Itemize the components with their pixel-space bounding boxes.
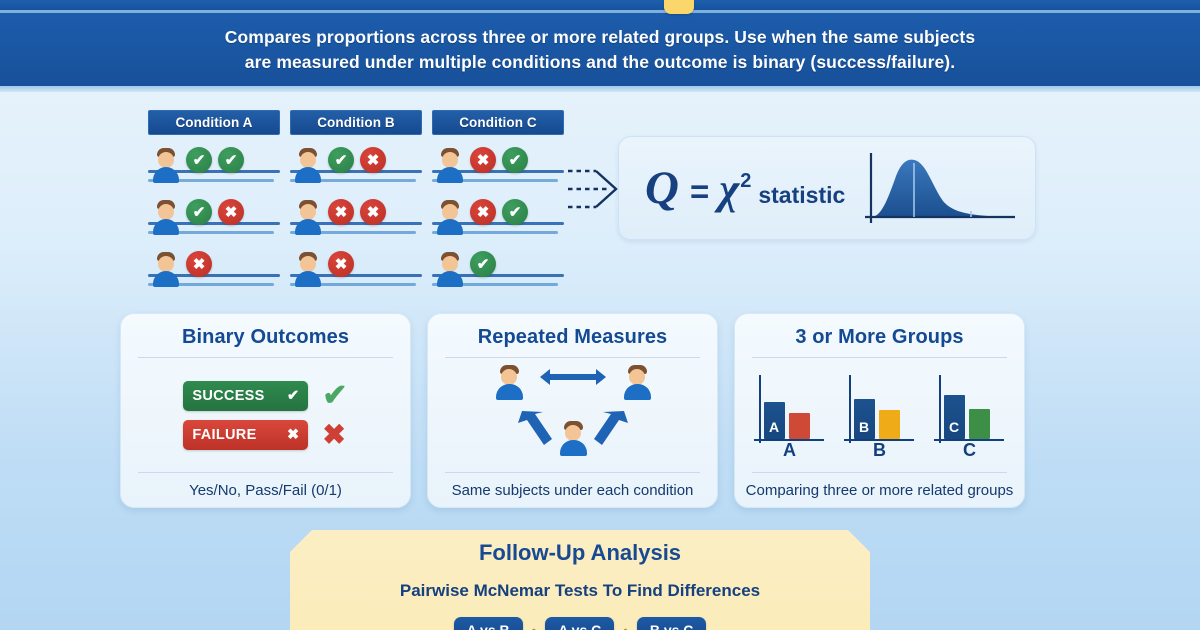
card-three-or-more-groups: 3 or More Groups A A B B (734, 313, 1025, 508)
person-icon (294, 148, 322, 184)
chart-y-axis (759, 375, 761, 443)
person-icon (152, 252, 180, 288)
card-title: Binary Outcomes (182, 326, 349, 349)
repeated-measures-diagram (478, 363, 668, 467)
bar-letter: C (945, 419, 964, 435)
follow-up-analysis-panel: Follow-Up Analysis Pairwise McNemar Test… (290, 530, 870, 630)
condition-header-a: Condition A (148, 110, 280, 135)
cross-icon: ✖ (360, 147, 386, 173)
mini-chart-a: A A (752, 373, 828, 457)
condition-header-row: Condition A Condition B Condition C (148, 110, 568, 135)
bar-secondary (879, 410, 900, 439)
formula-expression: Q = χ 2 statistic (645, 165, 845, 212)
grid-cell-c1: ✖ ✔ (432, 146, 564, 186)
person-icon (436, 148, 464, 184)
formula-exponent: 2 (740, 170, 751, 193)
check-icon: ✔ (470, 251, 496, 277)
card-body: A A B B C C (735, 358, 1024, 472)
success-label: SUCCESS (192, 388, 264, 404)
cross-icon: ✖ (470, 199, 496, 225)
chart-x-label: A (752, 440, 828, 461)
card-footer: Comparing three or more related groups (746, 473, 1014, 507)
formula-statistic-label: statistic (758, 182, 845, 209)
banner-line-1: Compares proportions across three or mor… (225, 25, 975, 50)
banner-line-2: are measured under multiple conditions a… (245, 50, 955, 75)
check-icon: ✔ (287, 388, 299, 404)
card-footer: Yes/No, Pass/Fail (0/1) (189, 473, 342, 507)
banner-top-stripe (0, 0, 1200, 10)
card-title: Repeated Measures (478, 326, 668, 349)
chi-square-distribution-icon (859, 151, 1019, 227)
banner-text-block: Compares proportions across three or mor… (0, 13, 1200, 86)
cross-icon: ✖ (328, 199, 354, 225)
condition-header-b: Condition B (290, 110, 422, 135)
grid-cell-a3: ✖ (148, 250, 280, 290)
formula-equals-symbol: = (690, 173, 709, 211)
grid-cell-c2: ✖ ✔ (432, 198, 564, 238)
mini-chart-c: C C (932, 373, 1008, 457)
check-icon: ✔ (502, 147, 528, 173)
formula-q-symbol: Q (645, 165, 679, 212)
grid-cell-a2: ✔ ✖ (148, 198, 280, 238)
cross-icon: ✖ (328, 251, 354, 277)
person-icon (436, 200, 464, 236)
mini-chart-b: B B (842, 373, 918, 457)
failure-pill: FAILURE ✖ (183, 420, 308, 450)
check-icon: ✔ (186, 147, 212, 173)
pairwise-badge-ab[interactable]: A vs B (454, 617, 523, 630)
failure-label: FAILURE (192, 427, 256, 443)
banner-bottom-stripe (0, 86, 1200, 92)
bar-letter: A (765, 419, 784, 435)
condition-header-c: Condition C (432, 110, 564, 135)
arrow-left-down (518, 411, 552, 445)
chart-x-label: C (932, 440, 1008, 461)
person-icon (294, 252, 322, 288)
failure-row: FAILURE ✖ ✖ (183, 420, 347, 450)
outcome-pill-group: SUCCESS ✔ ✔ FAILURE ✖ ✖ (183, 381, 347, 450)
cross-icon-large: ✖ (322, 421, 345, 449)
formula-panel: Q = χ 2 statistic (618, 136, 1036, 240)
check-icon-large: ✔ (322, 381, 347, 411)
follow-up-subtitle: Pairwise McNemar Tests To Find Differenc… (400, 581, 760, 601)
person-icon (152, 148, 180, 184)
cross-icon: ✖ (470, 147, 496, 173)
check-icon: ✔ (328, 147, 354, 173)
bar-secondary (969, 409, 990, 439)
person-icon (152, 200, 180, 236)
check-icon: ✔ (186, 199, 212, 225)
person-icon (436, 252, 464, 288)
cross-icon: ✖ (186, 251, 212, 277)
subject-grid: Condition A Condition B Condition C ✔ ✔ (148, 110, 568, 280)
dashed-arrow-icon (566, 163, 624, 215)
group-bar-charts: A A B B C C (752, 373, 1008, 457)
badge-separator: • (623, 623, 628, 630)
pairwise-badge-bc[interactable]: B vs C (637, 617, 707, 630)
subject-rows: ✔ ✔ ✔ ✖ ✖ ✔ (148, 146, 568, 290)
grid-cell-b2: ✖ ✖ (290, 198, 422, 238)
card-title: 3 or More Groups (795, 326, 963, 349)
tab-notch-icon (664, 0, 694, 14)
chart-y-axis (939, 375, 941, 443)
feature-cards: Binary Outcomes SUCCESS ✔ ✔ FAILURE ✖ ✖ (120, 313, 1080, 508)
top-banner: Compares proportions across three or mor… (0, 0, 1200, 92)
check-icon: ✔ (218, 147, 244, 173)
card-repeated-measures: Repeated Measures (427, 313, 718, 508)
chart-y-axis (849, 375, 851, 443)
arrow-right-down (594, 411, 628, 445)
card-footer: Same subjects under each condition (452, 473, 694, 507)
card-binary-outcomes: Binary Outcomes SUCCESS ✔ ✔ FAILURE ✖ ✖ (120, 313, 411, 508)
bar-secondary (789, 413, 810, 439)
formula-chi-symbol: χ (719, 168, 739, 211)
person-icon (294, 200, 322, 236)
chart-x-label: B (842, 440, 918, 461)
card-body: SUCCESS ✔ ✔ FAILURE ✖ ✖ (121, 358, 410, 472)
grid-cell-b1: ✔ ✖ (290, 146, 422, 186)
subject-row: ✔ ✖ ✖ ✖ ✖ ✔ (148, 198, 568, 238)
pairwise-badge-ac[interactable]: A vs C (545, 617, 614, 630)
card-body (428, 358, 717, 472)
success-pill: SUCCESS ✔ (183, 381, 308, 411)
cross-icon: ✖ (287, 427, 299, 443)
check-icon: ✔ (502, 199, 528, 225)
success-row: SUCCESS ✔ ✔ (183, 381, 347, 411)
cross-icon: ✖ (360, 199, 386, 225)
double-arrow-horizontal (540, 369, 606, 385)
grid-cell-b3: ✖ (290, 250, 422, 290)
cross-icon: ✖ (218, 199, 244, 225)
badge-separator: • (532, 623, 537, 630)
subject-row: ✔ ✔ ✔ ✖ ✖ ✔ (148, 146, 568, 186)
grid-cell-c3: ✔ (432, 250, 564, 290)
subject-row: ✖ ✖ ✔ (148, 250, 568, 290)
bar-letter: B (855, 419, 874, 435)
grid-cell-a1: ✔ ✔ (148, 146, 280, 186)
pairwise-badge-group: A vs B • A vs C • B vs C (454, 617, 707, 630)
follow-up-title: Follow-Up Analysis (479, 540, 681, 566)
